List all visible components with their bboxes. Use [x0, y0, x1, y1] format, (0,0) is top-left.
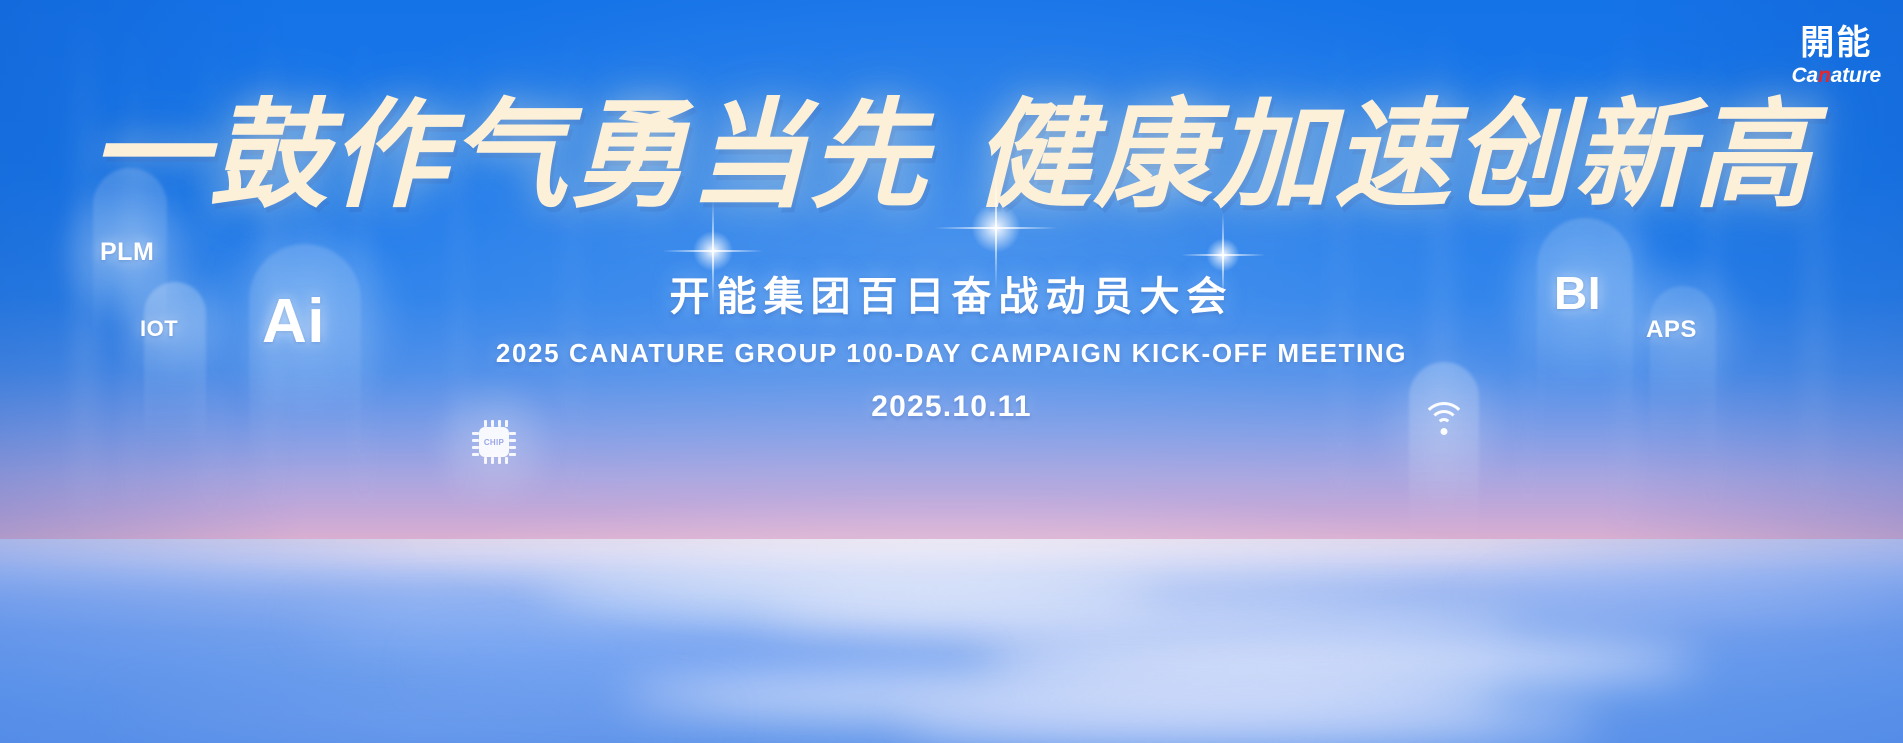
- headline-segment-2: 健康加速创新高: [974, 85, 1814, 224]
- logo-en-accent: n: [1818, 64, 1831, 87]
- page-title: 一鼓作气勇当先健康加速创新高: [89, 96, 1813, 214]
- subtitle-chinese: 开能集团百日奋战动员大会: [670, 264, 1234, 322]
- brand-logo[interactable]: 開能 Canature: [1792, 26, 1881, 86]
- water-sheen: [0, 539, 1903, 743]
- logo-chinese-name: 開能: [1792, 26, 1881, 60]
- event-poster: PLM IOT Ai: [0, 0, 1903, 743]
- water-reflection: [0, 539, 1903, 743]
- logo-en-prefix: Ca: [1792, 64, 1818, 87]
- headline-segment-1: 一鼓作气勇当先: [89, 85, 929, 224]
- event-date: 2025.10.11: [871, 390, 1032, 424]
- logo-en-suffix: ature: [1831, 64, 1881, 87]
- subtitle-english: 2025 CANATURE GROUP 100-DAY CAMPAIGN KIC…: [496, 338, 1407, 369]
- logo-english-name: Canature: [1792, 65, 1881, 86]
